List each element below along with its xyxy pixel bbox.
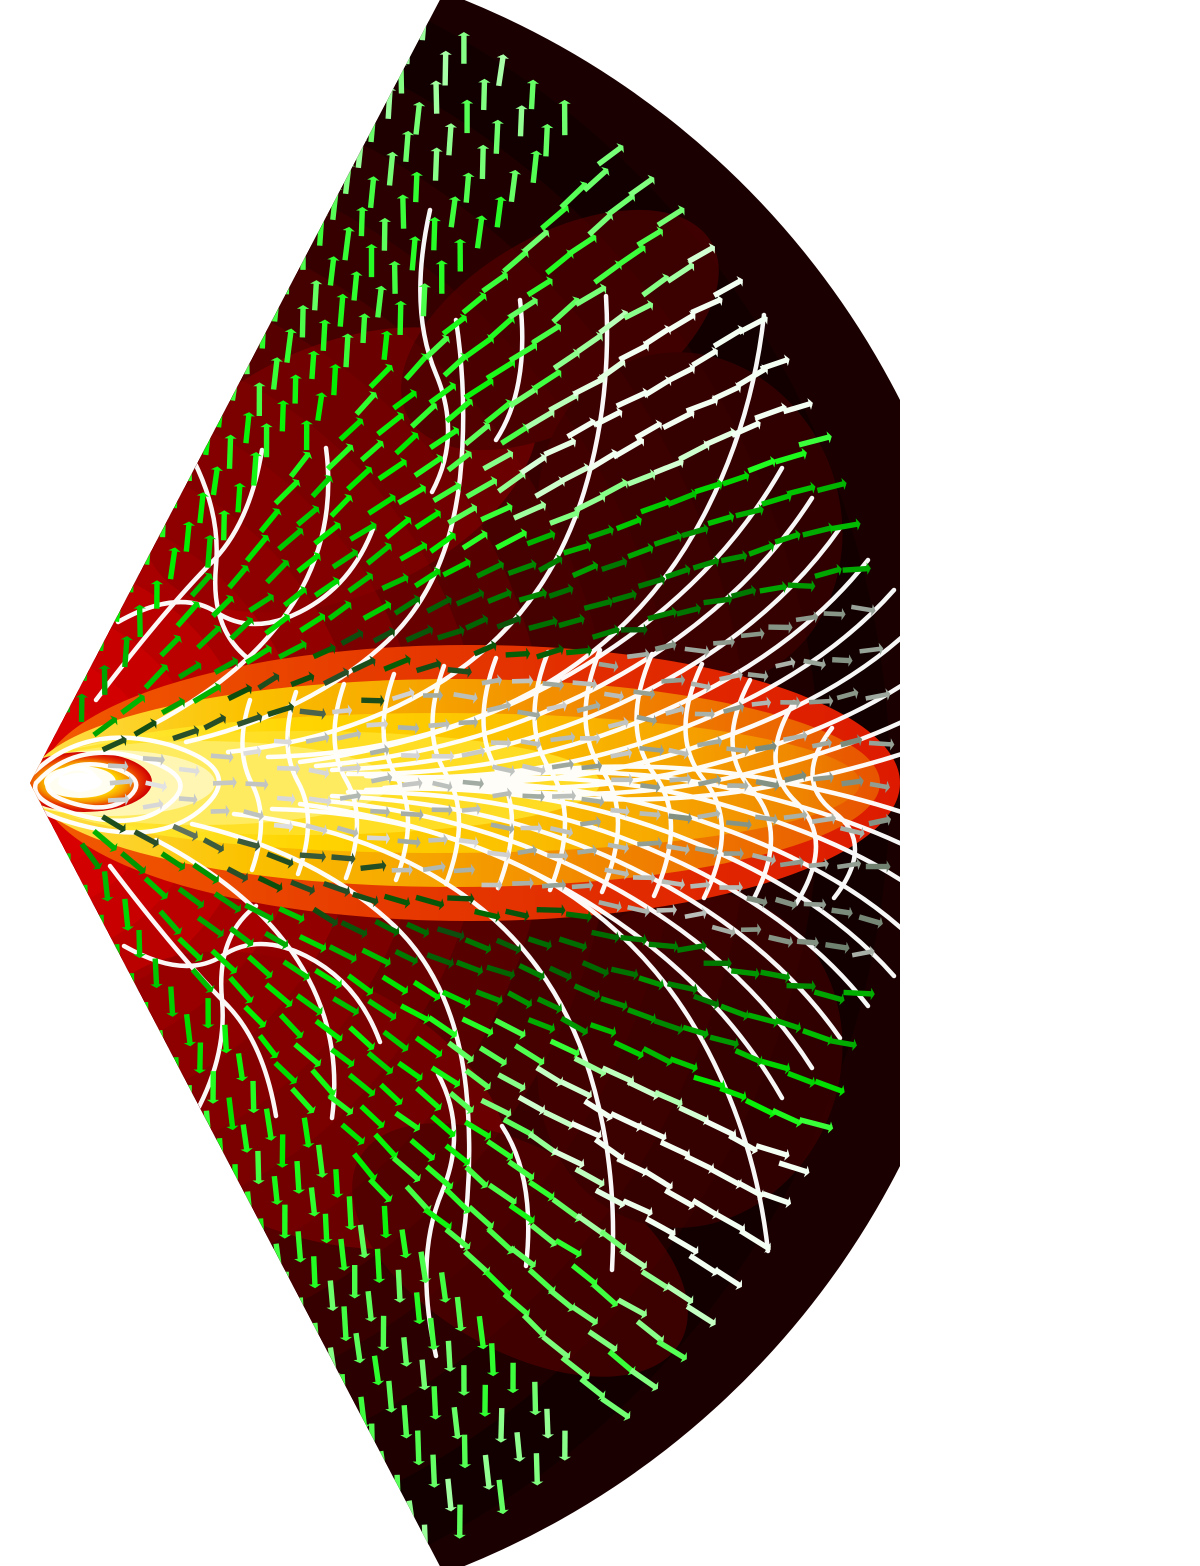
- velocity-vector: [537, 910, 564, 911]
- velocity-vector: [206, 425, 209, 455]
- velocity-vector: [160, 1030, 163, 1060]
- velocity-vector: [436, 149, 437, 181]
- velocity-vector-head: [80, 910, 92, 914]
- velocity-vector: [309, 799, 330, 802]
- velocity-vector: [445, 52, 446, 85]
- velocity-vector: [330, 258, 333, 286]
- velocity-vector-head: [170, 1085, 182, 1089]
- velocity-vector: [402, 783, 421, 785]
- velocity-vector: [229, 1098, 233, 1129]
- velocity-vector-head: [256, 1245, 268, 1249]
- velocity-vector: [398, 1270, 400, 1302]
- velocity-vector: [713, 642, 733, 644]
- velocity-vector: [436, 82, 437, 114]
- velocity-vector: [300, 1298, 302, 1329]
- velocity-vector: [254, 454, 256, 486]
- velocity-vector: [330, 1281, 333, 1310]
- velocity-vector: [423, 867, 444, 870]
- velocity-vector: [512, 883, 532, 884]
- velocity-vector: [462, 809, 480, 811]
- velocity-vector: [501, 1408, 502, 1441]
- velocity-vector: [176, 1057, 177, 1087]
- velocity-vector: [200, 494, 203, 523]
- velocity-vector: [536, 1453, 537, 1484]
- velocity-vector: [275, 291, 278, 321]
- velocity-vector: [497, 198, 501, 227]
- velocity-vector: [552, 796, 574, 797]
- velocity-vector: [105, 871, 108, 900]
- velocity-vector: [171, 987, 173, 1016]
- velocity-vector: [371, 178, 374, 208]
- velocity-vector: [532, 81, 534, 109]
- velocity-vector: [401, 755, 419, 756]
- velocity-vector: [599, 664, 617, 667]
- velocity-vector: [246, 784, 267, 785]
- velocity-vector: [361, 700, 383, 701]
- velocity-vector: [640, 813, 660, 815]
- velocity-vector-head: [140, 1029, 152, 1033]
- velocity-vector-head: [240, 343, 252, 347]
- velocity-vector: [370, 811, 388, 812]
- velocity-vector: [533, 152, 536, 183]
- velocity-vector: [286, 264, 287, 294]
- velocity-vector: [431, 1318, 434, 1348]
- velocity-vector: [649, 944, 677, 947]
- velocity-vector-head: [419, 9, 431, 13]
- velocity-vector-head: [274, 1271, 286, 1276]
- velocity-vector: [824, 613, 844, 614]
- velocity-vector: [551, 737, 574, 740]
- velocity-vector: [282, 402, 283, 432]
- velocity-vector: [448, 1341, 450, 1371]
- velocity-vector: [448, 1479, 451, 1510]
- velocity-vector: [323, 321, 325, 351]
- velocity-vector-head: [97, 618, 109, 622]
- velocity-vector: [809, 864, 828, 866]
- velocity-vector-head: [257, 315, 269, 319]
- velocity-vector: [163, 508, 164, 537]
- velocity-vector: [449, 125, 451, 156]
- velocity-vector: [206, 1111, 208, 1138]
- velocity-vector: [422, 10, 425, 40]
- velocity-vector: [627, 654, 648, 657]
- velocity-vector: [342, 1374, 343, 1403]
- velocity-vector: [361, 1397, 365, 1428]
- velocity-vector: [319, 1145, 323, 1176]
- velocity-vector: [155, 959, 156, 987]
- velocity-vector: [384, 1206, 386, 1237]
- velocity-vector: [274, 1176, 277, 1203]
- velocity-vector: [189, 452, 190, 481]
- velocity-vector: [315, 282, 317, 311]
- velocity-vector: [179, 769, 198, 771]
- velocity-vector-head: [271, 290, 283, 295]
- velocity-vector: [690, 885, 708, 887]
- velocity-vector: [401, 63, 402, 93]
- velocity-vector-head: [230, 371, 242, 376]
- velocity-vector: [482, 146, 483, 179]
- velocity-vector: [219, 399, 222, 427]
- velocity-vector: [346, 164, 350, 194]
- velocity-vector-head: [81, 649, 93, 654]
- velocity-vector-head: [407, 1528, 419, 1533]
- velocity-vector-head: [366, 1452, 378, 1456]
- velocity-vector: [832, 660, 851, 661]
- velocity-vector: [85, 885, 86, 913]
- velocity-vector-head: [279, 1299, 291, 1303]
- velocity-vector: [825, 945, 848, 949]
- velocity-vector: [448, 670, 471, 672]
- velocity-vector: [211, 811, 229, 812]
- velocity-vector: [395, 263, 396, 294]
- velocity-vector: [637, 843, 661, 845]
- velocity-vector: [755, 817, 776, 820]
- velocity-vector: [512, 681, 532, 682]
- velocity-vector: [621, 938, 646, 941]
- velocity-vector-head: [157, 1057, 169, 1062]
- velocity-vector: [253, 1081, 254, 1112]
- velocity-vector: [398, 841, 420, 843]
- velocity-vector: [340, 295, 343, 326]
- velocity-vector: [302, 307, 303, 338]
- velocity-vector: [143, 758, 164, 760]
- velocity-vector-head: [95, 942, 107, 946]
- velocity-vector: [788, 585, 814, 586]
- velocity-vector: [388, 88, 390, 119]
- velocity-vector: [521, 107, 522, 137]
- velocity-vector: [261, 1218, 263, 1248]
- velocity-vector: [434, 1386, 436, 1418]
- velocity-vector-head: [316, 211, 328, 215]
- velocity-vector: [320, 213, 322, 246]
- velocity-vector: [390, 153, 393, 185]
- velocity-vector: [274, 359, 278, 390]
- velocity-vector: [346, 335, 348, 367]
- velocity-vector: [809, 701, 832, 702]
- velocity-vector: [125, 638, 127, 668]
- velocity-vector: [552, 764, 572, 767]
- velocity-vector: [517, 1432, 520, 1460]
- velocity-vector: [139, 930, 140, 957]
- velocity-vector: [547, 1409, 548, 1437]
- velocity-vector: [412, 238, 415, 271]
- velocity-vector-head: [328, 1373, 340, 1378]
- velocity-vector-head: [395, 62, 407, 66]
- velocity-vector: [108, 766, 127, 767]
- velocity-vector-head: [229, 1190, 241, 1194]
- velocity-vector: [200, 1043, 201, 1073]
- velocity-vector: [349, 1196, 351, 1228]
- velocity-vector: [670, 779, 690, 781]
- velocity-vector: [354, 273, 357, 301]
- velocity-vector: [661, 680, 683, 682]
- velocity-vector: [403, 196, 404, 229]
- velocity-vector: [101, 620, 104, 651]
- velocity-vector: [422, 1360, 425, 1389]
- figure-canvas: density 1e+001.e-011.e-021.e-031.e-041.e…: [0, 0, 1200, 1566]
- velocity-vector: [238, 484, 240, 512]
- velocity-vector: [704, 599, 731, 603]
- velocity-vector: [459, 840, 477, 842]
- velocity-vector-head: [62, 683, 74, 687]
- wedge-domain: [0, 0, 900, 1566]
- velocity-vector: [488, 853, 510, 855]
- velocity-vector: [726, 822, 750, 825]
- plot-area: [0, 0, 900, 1566]
- velocity-vector: [358, 138, 361, 168]
- velocity-vector: [363, 315, 365, 343]
- velocity-vector: [404, 1405, 406, 1437]
- velocity-vector: [384, 332, 387, 360]
- velocity-vector: [243, 1125, 247, 1152]
- velocity-vector-head: [297, 235, 309, 239]
- velocity-vector: [174, 481, 175, 508]
- velocity-vector: [640, 785, 659, 787]
- velocity-vector: [407, 33, 409, 64]
- velocity-vector: [404, 1337, 407, 1365]
- velocity-vector: [582, 799, 603, 802]
- velocity-vector: [298, 1231, 300, 1261]
- velocity-vector: [813, 777, 832, 779]
- velocity-vector: [843, 569, 870, 571]
- velocity-vector: [258, 1151, 259, 1183]
- velocity-vector: [454, 1407, 458, 1438]
- velocity-vector-head: [126, 999, 138, 1003]
- velocity-vector: [315, 1323, 318, 1354]
- velocity-vector: [400, 302, 401, 335]
- visualization-svg: [0, 0, 900, 1566]
- velocity-vector: [334, 366, 336, 396]
- velocity-vector: [780, 862, 802, 865]
- velocity-vector: [604, 694, 622, 697]
- velocity-vector: [797, 941, 817, 943]
- velocity-vector: [117, 944, 119, 971]
- velocity-vector-head: [112, 968, 124, 972]
- velocity-vector: [755, 746, 775, 749]
- velocity-vector: [860, 649, 882, 652]
- velocity-vector: [401, 814, 422, 815]
- velocity-vector-head: [367, 110, 379, 114]
- velocity-vector: [669, 816, 691, 819]
- velocity-vector: [518, 850, 536, 853]
- velocity-vector: [577, 850, 595, 852]
- velocity-vector: [277, 768, 299, 769]
- velocity-vector: [582, 766, 601, 768]
- velocity-vector: [796, 617, 817, 620]
- velocity-vector: [286, 1272, 287, 1302]
- velocity-vector-head: [183, 450, 195, 454]
- velocity-vector: [748, 674, 767, 676]
- velocity-vector: [84, 651, 87, 681]
- velocity-vector: [566, 914, 590, 917]
- velocity-vector: [125, 899, 128, 929]
- velocity-vector: [140, 606, 141, 637]
- velocity-vector: [428, 839, 446, 840]
- velocity-vector-head: [419, 1553, 431, 1557]
- velocity-vector: [787, 986, 815, 987]
- velocity-vector: [333, 187, 337, 220]
- velocity-vector: [657, 910, 676, 911]
- velocity-vector: [246, 345, 247, 375]
- velocity-vector: [434, 219, 435, 251]
- velocity-vector: [566, 650, 590, 652]
- velocity-vector: [295, 376, 296, 404]
- velocity-vector: [277, 798, 294, 799]
- velocity-vector: [378, 287, 382, 317]
- velocity-vector: [869, 743, 893, 745]
- velocity-vector: [499, 1480, 503, 1513]
- velocity-vector: [67, 685, 68, 713]
- velocity-vector: [300, 711, 325, 714]
- velocity-vector-head: [169, 479, 181, 483]
- velocity-vector: [332, 710, 350, 712]
- velocity-vector-head: [337, 1400, 349, 1404]
- velocity-vector: [416, 173, 417, 202]
- velocity-vector: [225, 1025, 227, 1052]
- velocity-vector: [187, 1014, 191, 1045]
- velocity-vector: [580, 822, 599, 825]
- velocity-vector: [423, 285, 424, 317]
- velocity-vector: [312, 352, 314, 379]
- velocity-vector-head: [355, 136, 367, 141]
- velocity-vector: [492, 1343, 494, 1375]
- velocity-vector-head: [392, 1502, 404, 1506]
- velocity-vector-head: [311, 1351, 323, 1355]
- velocity-vector: [208, 537, 210, 568]
- velocity-vector: [389, 1381, 392, 1411]
- velocity-vector-head: [157, 506, 169, 510]
- velocity-vector: [429, 724, 449, 726]
- velocity-vector: [361, 866, 385, 869]
- velocity-vector-head: [402, 31, 414, 35]
- velocity-vector: [224, 512, 225, 541]
- velocity-vector-head: [203, 424, 215, 429]
- velocity-vector: [341, 1239, 344, 1270]
- velocity-vector: [573, 683, 596, 685]
- velocity-vector: [110, 781, 132, 783]
- velocity-vector: [368, 1291, 371, 1320]
- velocity-vector: [220, 1138, 222, 1170]
- velocity-vector-head: [296, 1326, 308, 1330]
- velocity-vector: [639, 748, 662, 751]
- velocity-vector: [752, 702, 770, 704]
- velocity-vector: [484, 80, 485, 110]
- velocity-vector: [416, 103, 419, 134]
- velocity-vector: [731, 971, 758, 974]
- velocity-vector: [634, 692, 654, 695]
- velocity-vector: [572, 885, 592, 887]
- velocity-vector-head: [215, 398, 227, 403]
- velocity-vector: [417, 1292, 420, 1322]
- velocity-vector: [521, 741, 540, 744]
- velocity-vector: [398, 727, 418, 728]
- velocity-vector: [546, 125, 547, 156]
- velocity-vector-head: [143, 532, 155, 536]
- velocity-vector: [340, 768, 359, 770]
- velocity-vector: [832, 910, 852, 913]
- velocity-vector: [804, 904, 825, 905]
- velocity-vector: [741, 634, 763, 636]
- velocity-vector: [311, 1187, 314, 1215]
- velocity-vector: [493, 793, 511, 796]
- velocity-vector-head: [215, 1168, 227, 1172]
- velocity-vector: [244, 751, 261, 754]
- velocity-vector: [611, 810, 629, 812]
- velocity-vector: [506, 654, 529, 655]
- velocity-vector: [179, 798, 196, 799]
- velocity-vector: [300, 855, 325, 857]
- velocity-vector: [248, 1192, 251, 1224]
- velocity-vector: [332, 857, 355, 859]
- velocity-vector: [543, 683, 563, 685]
- velocity-vector: [246, 414, 249, 444]
- velocity-vector: [262, 316, 263, 348]
- velocity-vector: [378, 1249, 380, 1282]
- velocity-vector: [340, 795, 360, 798]
- velocity-vector-head: [124, 564, 136, 568]
- velocity-vector: [870, 784, 889, 787]
- velocity-vector-head: [244, 1220, 256, 1225]
- velocity-vector: [784, 815, 806, 818]
- velocity-vector: [325, 1214, 326, 1242]
- velocity-vector: [367, 838, 389, 839]
- velocity-vector: [147, 534, 150, 565]
- velocity-vector: [466, 174, 468, 203]
- velocity-vector: [297, 1161, 299, 1192]
- mach-legend: Mach 2.01.51.00.50.0: [900, 0, 1200, 1566]
- velocity-vector: [186, 523, 189, 552]
- velocity-vector: [372, 1424, 373, 1455]
- velocity-vector: [230, 436, 231, 469]
- velocity-vector: [371, 112, 374, 142]
- velocity-vector: [425, 1525, 426, 1556]
- velocity-vector: [459, 722, 477, 723]
- velocity-vector-head: [281, 262, 293, 266]
- velocity-vector: [108, 799, 128, 800]
- velocity-vector: [274, 825, 292, 827]
- velocity-vector-head: [379, 1478, 391, 1483]
- velocity-vector: [463, 782, 483, 784]
- velocity-vector: [542, 885, 565, 887]
- velocity-vector: [406, 132, 408, 161]
- velocity-vector: [844, 992, 874, 994]
- velocity-vector: [397, 1475, 398, 1504]
- velocity-vector: [211, 756, 232, 758]
- velocity-vector: [842, 781, 863, 784]
- velocity-vector: [116, 595, 119, 622]
- velocity-vector: [457, 1297, 461, 1330]
- velocity-vector: [384, 219, 385, 250]
- velocity-vector: [454, 870, 474, 871]
- velocity-vector-head: [62, 878, 74, 882]
- velocity-vector: [465, 1435, 466, 1467]
- velocity-vector: [523, 796, 544, 797]
- velocity-vector: [367, 724, 387, 725]
- velocity-vector: [344, 1306, 346, 1339]
- velocity-vector: [535, 1382, 536, 1414]
- velocity-vector: [685, 649, 708, 652]
- velocity-vector: [336, 1169, 338, 1196]
- velocity-vector-head: [343, 162, 355, 167]
- velocity-vector-head: [202, 1135, 214, 1139]
- velocity-vector-head: [330, 185, 342, 190]
- velocity-vector: [314, 1256, 315, 1286]
- velocity-vector: [361, 208, 362, 236]
- velocity-vector: [726, 749, 748, 752]
- velocity-vector: [213, 782, 235, 783]
- velocity-vector: [496, 121, 498, 154]
- velocity-vector-head: [113, 594, 125, 599]
